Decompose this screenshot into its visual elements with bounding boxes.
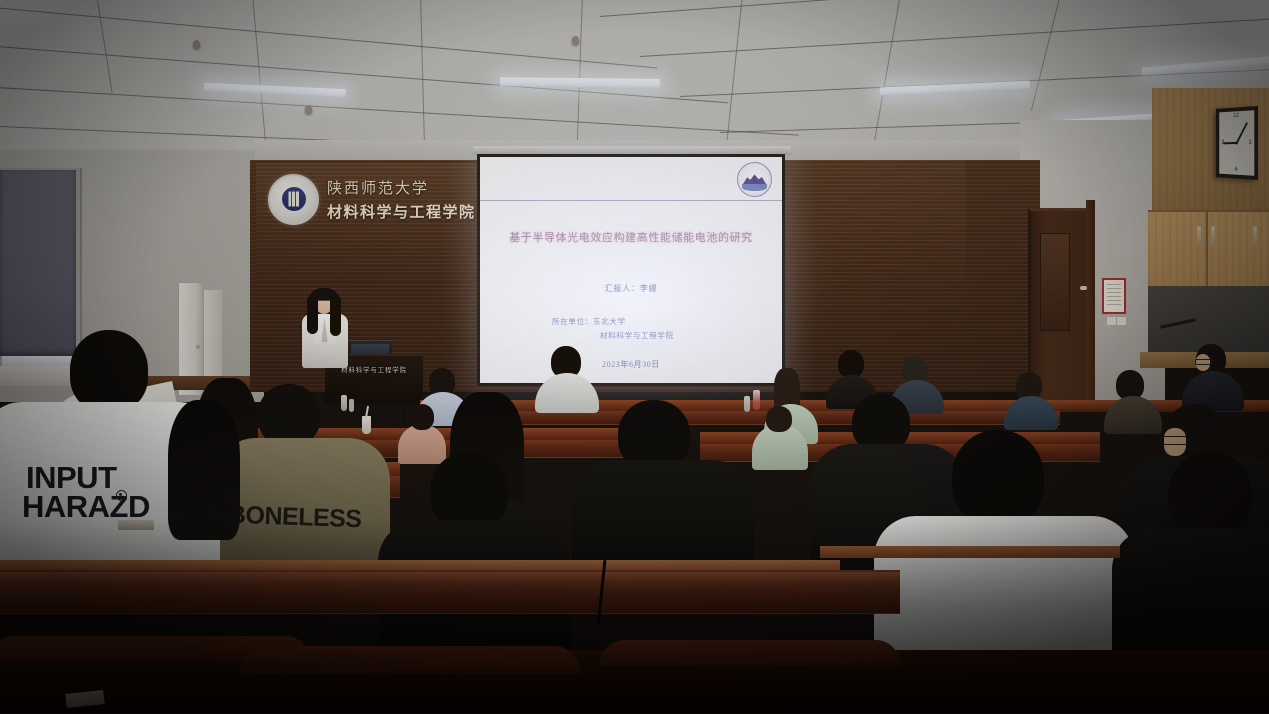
clock-minute-hand	[1236, 122, 1248, 143]
slide-divider-rule	[480, 200, 782, 201]
tshirt-text-harazd: HARAZD	[22, 492, 150, 522]
projection-screen: 基于半导体光电效应构建高性能储能电池的研究 汇报人：李娜 所在单位：东北大学 材…	[477, 154, 785, 386]
cabinet-handle[interactable]	[1211, 226, 1215, 248]
clock-numeral: 3	[1249, 140, 1252, 146]
door-handle[interactable]	[1080, 286, 1087, 290]
wall-clock: 12 3 6 9	[1216, 106, 1258, 180]
window-roller-blind[interactable]	[0, 170, 76, 356]
ceiling-light-panel	[500, 77, 660, 88]
presenter-hair-left	[307, 296, 318, 334]
head	[952, 430, 1044, 526]
presentation-slide: 基于半导体光电效应构建高性能储能电池的研究 汇报人：李娜 所在单位：东北大学 材…	[480, 157, 782, 383]
wall-cabinet-lower[interactable]	[1148, 210, 1269, 288]
presenter-glasses	[317, 300, 331, 305]
drink-cup	[362, 416, 371, 434]
slide-date: 2023年6月30日	[480, 359, 782, 370]
head	[70, 330, 148, 412]
red-bordered-notice-poster	[1102, 278, 1126, 314]
eyeglasses	[1160, 436, 1188, 445]
head	[430, 452, 508, 530]
head	[1168, 452, 1252, 538]
window-glass-gap	[2, 356, 74, 366]
wood-slat-wall-lit-right	[786, 160, 966, 310]
clock-numeral: 12	[1233, 113, 1239, 119]
cabinet-handle[interactable]	[1253, 226, 1257, 248]
desk-row	[820, 546, 1120, 558]
seat-back	[600, 640, 900, 666]
slide-affiliation-line-1: 所在单位：东北大学	[552, 317, 626, 326]
sprinkler-head	[193, 40, 200, 49]
head	[410, 404, 434, 430]
water-bottle	[753, 390, 760, 410]
presenter-speaker	[298, 288, 352, 370]
clock-numeral: 6	[1235, 167, 1238, 173]
slide-affiliation-line-2: 材料科学与工程学院	[552, 329, 742, 343]
water-bottle	[744, 396, 750, 412]
shaanxi-normal-university-emblem	[268, 174, 319, 225]
seat-back	[240, 646, 580, 674]
banner-line-1: 陕西师范大学	[327, 177, 476, 198]
door-window-panel	[1040, 233, 1070, 331]
eyeglasses	[1195, 359, 1212, 365]
slide-presenter-line: 汇报人：李娜	[480, 283, 782, 294]
door-frame	[1086, 200, 1095, 406]
long-hair	[168, 400, 240, 540]
shoulders	[398, 424, 446, 464]
presenter-hair-right	[330, 296, 341, 336]
microphone-stand	[404, 392, 406, 430]
banner-line-2: 材料科学与工程学院	[327, 201, 476, 222]
desk-label-tag	[118, 520, 154, 530]
clock-face: 12 3 6 9	[1219, 110, 1254, 176]
slide-title: 基于半导体光电效应构建高性能储能电池的研究	[480, 229, 782, 245]
slide-affiliation: 所在单位：东北大学 材料科学与工程学院	[552, 315, 742, 343]
water-bottle	[341, 395, 347, 411]
desk-reflection	[0, 572, 900, 598]
registered-mark-icon	[116, 490, 127, 501]
head	[766, 406, 792, 432]
water-bottle	[349, 399, 354, 412]
university-seal-logo	[737, 162, 772, 197]
lecture-hall-scene: 陕西师范大学 材料科学与工程学院 基于半导体光电效应构建高性能储能电池的研究 汇…	[0, 0, 1269, 714]
tshirt-text-boneless: BONELESS	[228, 503, 362, 532]
head	[838, 350, 864, 378]
cabinet-handle[interactable]	[1197, 226, 1201, 248]
head	[258, 384, 320, 446]
sprinkler-head	[572, 36, 579, 45]
sprinkler-head	[305, 105, 312, 114]
clock-center-pin	[1235, 142, 1238, 145]
ceiling-light-panel	[204, 83, 346, 97]
light-switch-plate[interactable]	[1116, 316, 1127, 326]
wall-banner: 陕西师范大学 材料科学与工程学院	[262, 163, 458, 235]
